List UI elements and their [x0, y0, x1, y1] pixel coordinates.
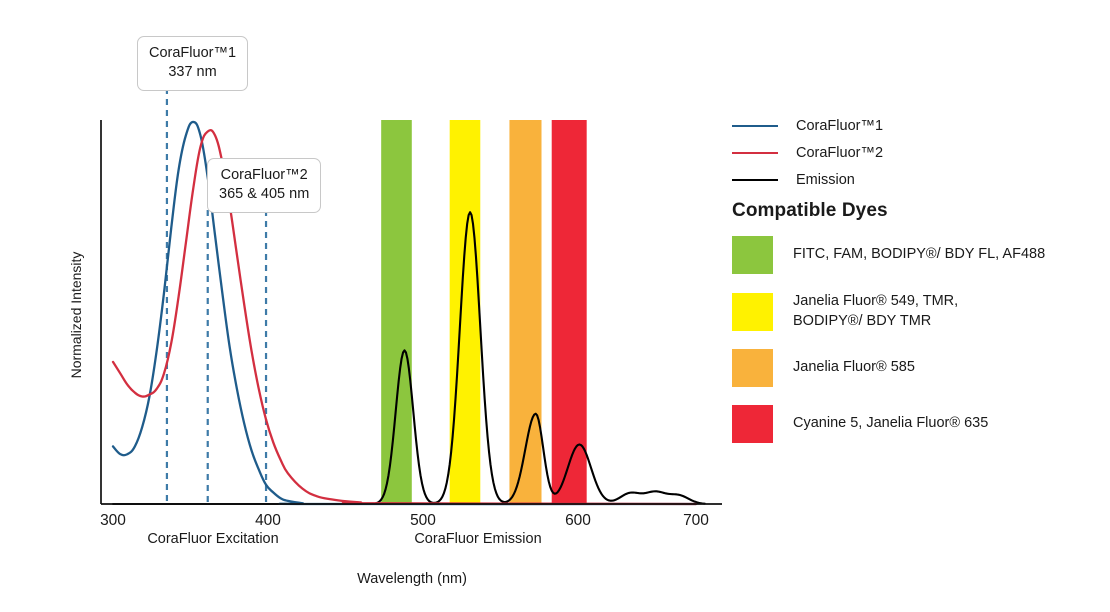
legend-label-corafluor-2: CoraFluor™2: [796, 145, 883, 161]
excitation-region-label: CoraFluor Excitation: [147, 531, 278, 547]
callout-2-line1: CoraFluor™2: [219, 166, 309, 185]
x-tick-600: 600: [565, 512, 591, 529]
x-tick-700: 700: [683, 512, 709, 529]
legend-line-swatch-corafluor-1: [732, 125, 778, 127]
legend-label-emission: Emission: [796, 172, 855, 188]
dye-label-red-line1: Cyanine 5, Janelia Fluor® 635: [793, 414, 988, 434]
series-legend: CoraFluor™1 CoraFluor™2 Emission: [730, 112, 1090, 193]
dye-label-yellow: Janelia Fluor® 549, TMR, BODIPY®/ BDY TM…: [793, 292, 958, 331]
spectra-chart: 300 400 500 600 700 CoraFluor Excitation…: [0, 0, 730, 612]
dye-label-orange-line1: Janelia Fluor® 585: [793, 358, 915, 378]
legend-item-corafluor-1: CoraFluor™1: [730, 112, 1090, 139]
compatible-dyes-heading: Compatible Dyes: [732, 200, 888, 222]
dye-item-yellow: Janelia Fluor® 549, TMR, BODIPY®/ BDY TM…: [730, 292, 1105, 331]
dye-label-orange: Janelia Fluor® 585: [793, 358, 915, 378]
callout-1-line1: CoraFluor™1: [149, 44, 236, 63]
corafluor-1-callout: CoraFluor™1 337 nm: [137, 36, 248, 91]
dye-swatch-yellow: [732, 293, 773, 331]
dye-label-yellow-line1: Janelia Fluor® 549, TMR,: [793, 292, 958, 312]
legend-item-emission: Emission: [730, 166, 1090, 193]
corafluor-2-callout: CoraFluor™2 365 & 405 nm: [207, 158, 321, 213]
legend-item-corafluor-2: CoraFluor™2: [730, 139, 1090, 166]
compatible-dyes-legend: FITC, FAM, BODIPY®/ BDY FL, AF488 Janeli…: [730, 236, 1105, 461]
dye-label-red: Cyanine 5, Janelia Fluor® 635: [793, 414, 988, 434]
green-band: [381, 120, 412, 504]
x-axis-title: Wavelength (nm): [357, 571, 467, 587]
chart-page: 300 400 500 600 700 CoraFluor Excitation…: [0, 0, 1110, 612]
emission-region-label: CoraFluor Emission: [414, 531, 541, 547]
legend-line-swatch-emission: [732, 179, 778, 181]
dye-label-green-line1: FITC, FAM, BODIPY®/ BDY FL, AF488: [793, 245, 1045, 265]
dye-label-yellow-line2: BODIPY®/ BDY TMR: [793, 312, 958, 332]
dye-item-orange: Janelia Fluor® 585: [730, 349, 1105, 387]
dye-swatch-red: [732, 405, 773, 443]
callout-2-line2: 365 & 405 nm: [219, 185, 309, 204]
callout-1-line2: 337 nm: [149, 63, 236, 82]
dye-label-green: FITC, FAM, BODIPY®/ BDY FL, AF488: [793, 245, 1045, 265]
dye-swatch-orange: [732, 349, 773, 387]
dye-band-group: [381, 120, 587, 504]
legend-label-corafluor-1: CoraFluor™1: [796, 118, 883, 134]
y-axis-title: Normalized Intensity: [68, 252, 84, 379]
x-tick-400: 400: [255, 512, 281, 529]
dye-item-green: FITC, FAM, BODIPY®/ BDY FL, AF488: [730, 236, 1105, 274]
plot-canvas: 300 400 500 600 700 CoraFluor Excitation…: [0, 0, 730, 612]
dye-swatch-green: [732, 236, 773, 274]
legend-line-swatch-corafluor-2: [732, 152, 778, 154]
dye-item-red: Cyanine 5, Janelia Fluor® 635: [730, 405, 1105, 443]
legend-panel: CoraFluor™1 CoraFluor™2 Emission Compati…: [730, 0, 1110, 612]
x-tick-500: 500: [410, 512, 436, 529]
x-tick-300: 300: [100, 512, 126, 529]
yellow-band: [450, 120, 481, 504]
